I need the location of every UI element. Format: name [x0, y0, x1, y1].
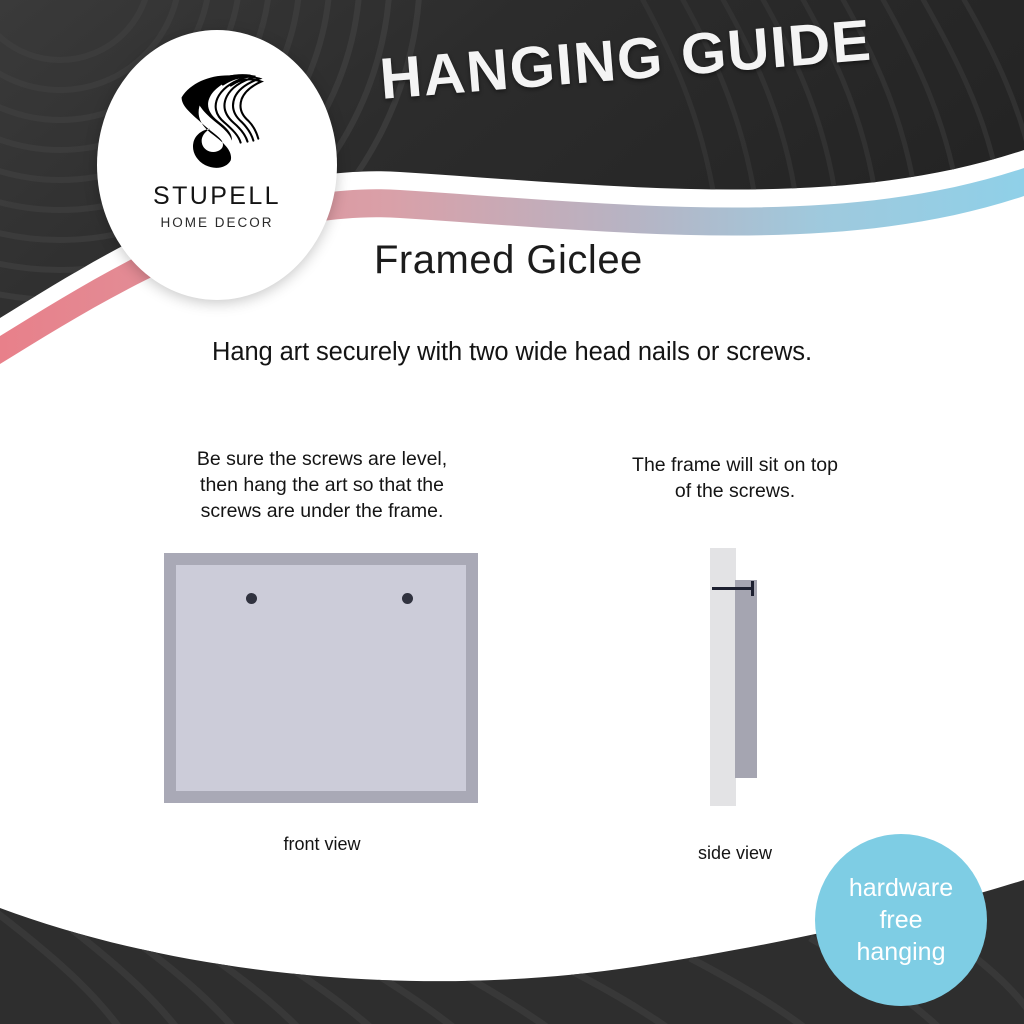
nail-icon — [712, 587, 754, 590]
brand-logo-badge: STUPELL HOME DECOR — [97, 30, 337, 300]
badge-line-2: free — [879, 904, 922, 936]
front-view-caption: Be sure the screws are level, then hang … — [152, 446, 492, 524]
front-view-frame-diagram — [164, 553, 478, 803]
hardware-free-hanging-badge: hardware free hanging — [815, 834, 987, 1006]
front-caption-line-1: Be sure the screws are level, — [152, 446, 492, 472]
side-caption-line-1: The frame will sit on top — [595, 452, 875, 478]
front-view-mat — [176, 565, 466, 791]
brand-wordmark: STUPELL — [153, 182, 281, 211]
front-view-label: front view — [172, 834, 472, 855]
brand-subwordmark: HOME DECOR — [160, 215, 273, 230]
product-type-label: Framed Giclee — [374, 238, 643, 283]
screw-dot-left-icon — [246, 593, 257, 604]
front-caption-line-3: screws are under the frame. — [152, 498, 492, 524]
front-caption-line-2: then hang the art so that the — [152, 472, 492, 498]
hanging-guide-page: STUPELL HOME DECOR HANGING GUIDE Framed … — [0, 0, 1024, 1024]
side-caption-line-2: of the screws. — [595, 478, 875, 504]
side-view-caption: The frame will sit on top of the screws. — [595, 452, 875, 504]
nail-head-icon — [751, 581, 754, 596]
side-view-frame-edge — [735, 580, 757, 778]
screw-dot-right-icon — [402, 593, 413, 604]
main-instruction-text: Hang art securely with two wide head nai… — [0, 338, 1024, 367]
side-view-label: side view — [625, 843, 845, 864]
page-title: HANGING GUIDE — [377, 4, 901, 112]
badge-line-3: hanging — [857, 936, 946, 968]
badge-line-1: hardware — [849, 872, 953, 904]
side-view-diagram — [700, 548, 810, 806]
stupell-swirl-logo-icon — [158, 58, 276, 176]
